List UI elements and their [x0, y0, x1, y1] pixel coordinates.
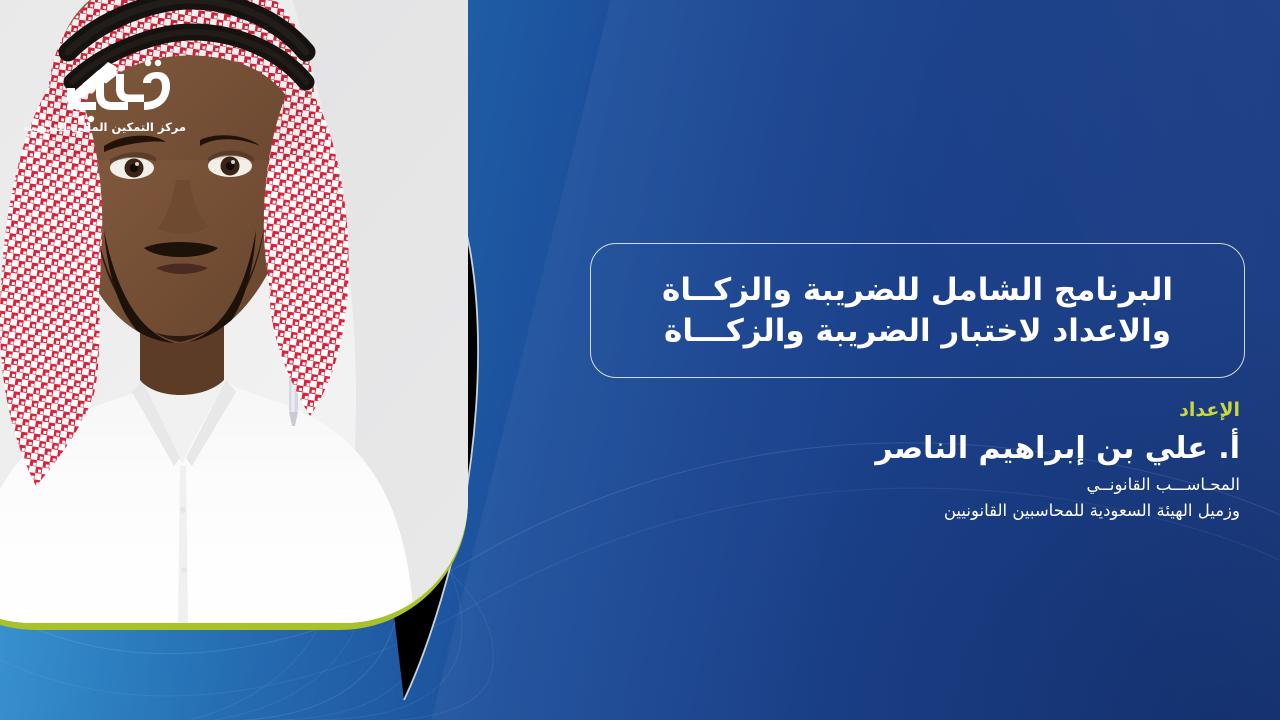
preparation-label: الإعداد [600, 396, 1240, 425]
presenter-affiliation: وزميل الهيئة السعودية للمحاسبين القانوني… [600, 499, 1240, 523]
brand-logo: مركز التمكين المالي للتدريب [36, 28, 186, 146]
program-title-line-1: البرنامج الشامل للضريبة والزكــاة [662, 270, 1173, 311]
presenter-block: الإعداد أ. علي بن إبراهيم الناصر المحـاس… [600, 396, 1240, 523]
presenter-name: أ. علي بن إبراهيم الناصر [600, 429, 1240, 470]
presenter-role: المحـاســـب القانونــي [600, 473, 1240, 497]
title-slide: مركز التمكين المالي للتدريب البرنامج الش… [0, 0, 1280, 720]
program-title-line-2: والاعداد لاختبار الضريبة والزكـــاة [664, 311, 1171, 352]
logo-subtitle: مركز التمكين المالي للتدريب [36, 120, 186, 134]
program-title-box: البرنامج الشامل للضريبة والزكــاة والاعد… [590, 243, 1245, 378]
